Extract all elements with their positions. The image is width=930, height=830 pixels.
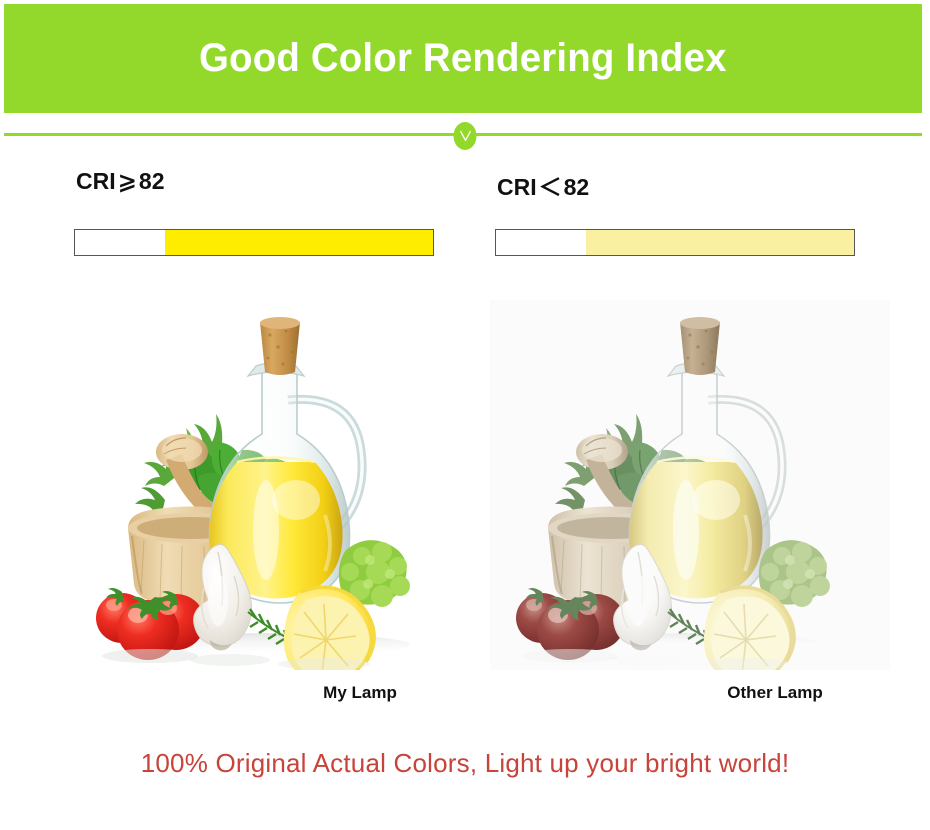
cri-operator-left: ⩾: [116, 168, 139, 194]
cri-label-group-left: CRI⩾82: [74, 168, 434, 195]
page-title: Good Color Rendering Index: [199, 36, 727, 81]
cri-prefix-right: CRI: [497, 174, 537, 200]
cri-label-group-right: CRI＜82: [495, 168, 855, 202]
color-bar-right: [495, 229, 855, 256]
caption-other-lamp: Other Lamp: [575, 683, 930, 703]
product-photo-other-lamp: [490, 300, 890, 670]
cri-value-right: 82: [564, 174, 590, 200]
food-still-life-illustration-washed: [490, 300, 890, 670]
cri-label-right: CRI＜82: [497, 168, 855, 202]
cri-prefix-left: CRI: [76, 168, 116, 194]
section-divider: [0, 122, 930, 150]
cri-label-left: CRI⩾82: [76, 168, 434, 195]
header-banner: Good Color Rendering Index: [4, 4, 922, 113]
color-bar-left-white-segment: [75, 230, 165, 255]
food-still-life-illustration-vivid: [70, 300, 470, 670]
cri-comparison-infographic: Good Color Rendering Index CRI⩾82 CRI＜82: [0, 0, 930, 830]
caption-my-lamp: My Lamp: [160, 683, 560, 703]
product-photo-my-lamp: [70, 300, 470, 670]
cri-operator-right: ＜: [537, 174, 564, 200]
color-bar-left: [74, 229, 434, 256]
color-bar-left-fill-segment: [165, 230, 434, 255]
chevron-down-icon: [454, 122, 477, 150]
color-bar-right-white-segment: [496, 230, 586, 255]
color-bar-right-fill-segment: [586, 230, 855, 255]
cri-value-left: 82: [139, 168, 165, 194]
tagline: 100% Original Actual Colors, Light up yo…: [0, 748, 930, 779]
